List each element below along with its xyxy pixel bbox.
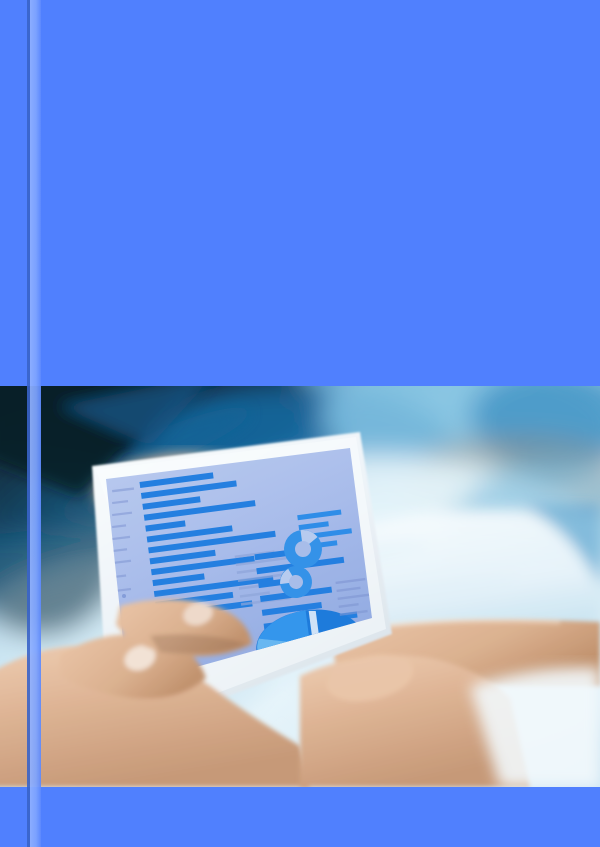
hero-image <box>0 386 600 787</box>
left-accent-stripe-light-overlay <box>30 0 41 847</box>
report-cover-page: INDEXBOX Kazakhstan Cranial And Facial I… <box>0 0 600 847</box>
header-band <box>0 0 600 386</box>
footer-band <box>0 787 600 847</box>
